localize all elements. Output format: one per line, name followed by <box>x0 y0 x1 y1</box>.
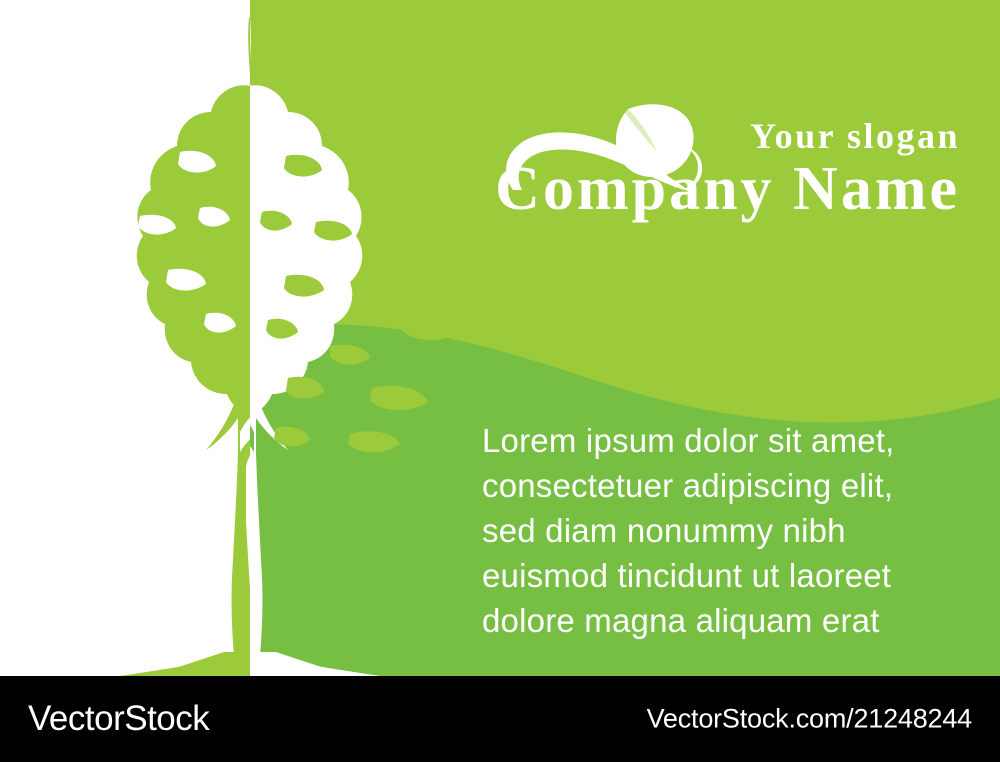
body-line: Lorem ipsum dolor sit amet, <box>482 418 982 463</box>
body-copy: Lorem ipsum dolor sit amet, consectetuer… <box>482 418 982 643</box>
body-line: euismod tincidunt ut laoreet <box>482 553 982 598</box>
body-line: dolore magna aliquam erat <box>482 598 982 643</box>
body-line: consectetuer adipiscing elit, <box>482 463 982 508</box>
vectorstock-url: VectorStock.com/21248244 <box>647 704 972 735</box>
artwork-stage: Your slogan Company Name Lorem ipsum dol… <box>0 0 1000 676</box>
body-line: sed diam nonummy nibh <box>482 508 982 553</box>
business-card-canvas: Your slogan Company Name Lorem ipsum dol… <box>0 0 1000 762</box>
watermark-bar: VectorStock VectorStock.com/21248244 <box>0 676 1000 762</box>
vectorstock-logo: VectorStock <box>28 699 209 739</box>
